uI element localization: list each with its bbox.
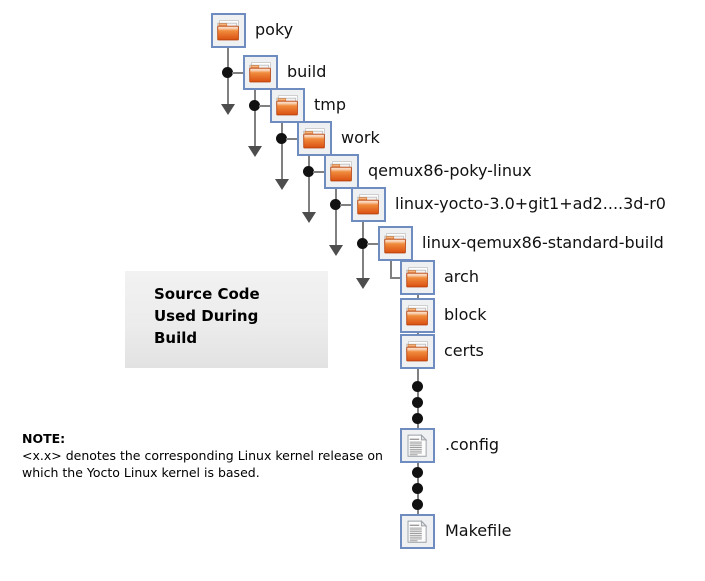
tree-node-label: work: [341, 128, 380, 148]
source-code-callout: Source Code Used During Build: [125, 271, 328, 368]
tree-node-label: qemux86-poky-linux: [368, 161, 532, 181]
tree-node-label: certs: [444, 341, 484, 361]
tree-node-label: linux-yocto-3.0+git1+ad2....3d-r0: [395, 194, 666, 214]
tree-node-label: arch: [444, 267, 479, 287]
tree-node-label: block: [444, 305, 486, 325]
folder-icon: [378, 226, 413, 261]
arrow-qemux86-poky-linux: [329, 245, 343, 256]
ellipsis-above-config-dot: [412, 413, 423, 424]
folder-icon: [297, 121, 332, 156]
tree-node-label: tmp: [314, 95, 346, 115]
note-body: <x.x> denotes the corresponding Linux ke…: [22, 447, 392, 481]
note-title: NOTE:: [22, 430, 392, 447]
connector-vline-qemux86-poky-linux: [335, 189, 337, 245]
tree-node-label: poky: [255, 20, 293, 40]
ellipsis-above-makefile-dot: [412, 483, 423, 494]
connector-vline-linux-yocto: [362, 222, 364, 278]
file-icon: [400, 428, 435, 463]
folder-icon: [351, 187, 386, 222]
folder-icon: [400, 334, 435, 369]
tree-node-label: .config: [445, 435, 499, 455]
directory-tree-diagram: pokybuildtmpworkqemux86-poky-linuxlinux-…: [0, 0, 705, 581]
file-icon: [400, 514, 435, 549]
folder-icon: [400, 298, 435, 333]
arrow-build: [248, 146, 262, 157]
ellipsis-above-config-dot: [412, 397, 423, 408]
folder-icon: [211, 13, 246, 48]
connector-vline-build: [254, 90, 256, 146]
tree-node-label: linux-qemux86-standard-build: [422, 233, 664, 253]
note-block: NOTE: <x.x> denotes the corresponding Li…: [22, 430, 392, 481]
ellipsis-above-makefile-dot: [412, 467, 423, 478]
folder-icon: [400, 260, 435, 295]
source-code-callout-text: Source Code Used During Build: [154, 283, 260, 349]
ellipsis-above-makefile-dot: [412, 499, 423, 510]
connector-vline-tmp: [281, 123, 283, 179]
arrow-tmp: [275, 179, 289, 190]
tree-node-label: build: [287, 62, 326, 82]
folder-icon: [324, 154, 359, 189]
arrow-work: [302, 212, 316, 223]
folder-icon: [243, 55, 278, 90]
arrow-linux-yocto: [356, 278, 370, 289]
folder-icon: [270, 88, 305, 123]
ellipsis-above-config-dot: [412, 381, 423, 392]
connector-vline-work: [308, 156, 310, 212]
arrow-poky: [221, 104, 235, 115]
tree-node-label: Makefile: [445, 521, 512, 541]
